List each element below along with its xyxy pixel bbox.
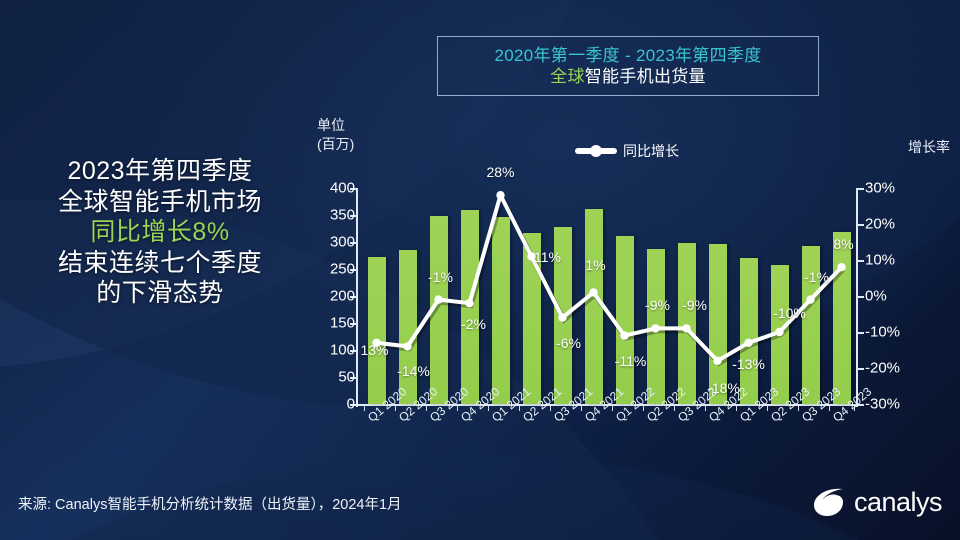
y-tick-label-left: 250 bbox=[313, 261, 355, 278]
growth-data-label: -6% bbox=[556, 335, 581, 351]
y-axis-left-label-line1: 单位 bbox=[317, 116, 354, 135]
y-tick-label-left: 400 bbox=[313, 180, 355, 197]
headline-line-3-accent: 同比增长8% bbox=[0, 217, 320, 248]
y-tick-label-left: 150 bbox=[313, 315, 355, 332]
growth-data-point bbox=[713, 357, 721, 365]
growth-data-label: 13% bbox=[360, 342, 388, 358]
growth-data-point bbox=[434, 295, 442, 303]
y-tick-label-right: 10% bbox=[865, 252, 915, 269]
source-footnote: 来源: Canalys智能手机分析统计数据（出货量），2024年1月 bbox=[18, 493, 402, 514]
growth-data-point bbox=[775, 328, 783, 336]
growth-data-label: 1% bbox=[585, 257, 605, 273]
canalys-logo: canalys bbox=[812, 486, 942, 518]
y-tick-label-right: 0% bbox=[865, 288, 915, 305]
growth-data-label: -2% bbox=[461, 316, 486, 332]
growth-data-label: -10% bbox=[773, 305, 806, 321]
y-tick-right bbox=[858, 368, 864, 370]
growth-line-series bbox=[356, 188, 858, 406]
growth-data-label: 28% bbox=[486, 164, 514, 180]
headline-line-5: 的下滑态势 bbox=[0, 278, 320, 309]
y-tick-label-left: 100 bbox=[313, 342, 355, 359]
legend-line-marker-icon bbox=[575, 148, 617, 154]
headline: 2023年第四季度 全球智能手机市场 同比增长8% 结束连续七个季度 的下滑态势 bbox=[0, 156, 320, 309]
growth-data-label: 11% bbox=[534, 249, 561, 265]
growth-data-point bbox=[496, 191, 504, 199]
growth-data-point bbox=[465, 299, 473, 307]
y-tick-label-left: 50 bbox=[313, 369, 355, 386]
growth-data-label: -1% bbox=[428, 269, 453, 285]
y-tick-label-left: 300 bbox=[313, 234, 355, 251]
growth-data-label: -9% bbox=[645, 297, 670, 313]
headline-line-1: 2023年第四季度 bbox=[0, 156, 320, 187]
y-tick-label-left: 200 bbox=[313, 288, 355, 305]
chart-title-box: 2020年第一季度 - 2023年第四季度 全球智能手机出货量 bbox=[437, 36, 819, 96]
y-tick-label-right: -10% bbox=[865, 324, 915, 341]
headline-line-2: 全球智能手机市场 bbox=[0, 187, 320, 218]
y-tick-right bbox=[858, 260, 864, 262]
y-tick-right bbox=[858, 188, 864, 190]
y-tick-right bbox=[858, 332, 864, 334]
growth-data-label: -1% bbox=[804, 269, 829, 285]
growth-data-point bbox=[589, 288, 597, 296]
growth-data-point bbox=[620, 331, 628, 339]
growth-data-label: -9% bbox=[682, 297, 707, 313]
y-axis-right-label: 增长率 bbox=[908, 137, 950, 157]
growth-data-point bbox=[682, 324, 690, 332]
y-tick-label-right: -30% bbox=[865, 396, 915, 413]
chart-plot-area: 400350300250200150100500 30%20%10%0%-10%… bbox=[356, 188, 858, 406]
y-tick-label-right: 20% bbox=[865, 216, 915, 233]
y-tick-label-left: 350 bbox=[313, 207, 355, 224]
y-tick-label-right: -20% bbox=[865, 360, 915, 377]
headline-line-4: 结束连续七个季度 bbox=[0, 248, 320, 279]
growth-data-point bbox=[837, 263, 845, 271]
chart-title-subject: 全球智能手机出货量 bbox=[550, 66, 706, 87]
chart-title-subject-white: 智能手机出货量 bbox=[585, 67, 706, 86]
growth-data-point bbox=[403, 342, 411, 350]
chart-legend: 同比增长 bbox=[575, 141, 679, 161]
x-tick bbox=[364, 406, 365, 411]
y-tick-label-left: 0 bbox=[313, 396, 355, 413]
chart-title-subject-green: 全球 bbox=[550, 67, 585, 86]
growth-data-label: -13% bbox=[732, 356, 765, 372]
growth-data-point bbox=[806, 295, 814, 303]
slide-canvas: 2023年第四季度 全球智能手机市场 同比增长8% 结束连续七个季度 的下滑态势… bbox=[0, 0, 960, 540]
y-axis-left-label: 单位 (百万) bbox=[317, 116, 354, 154]
canalys-swoosh-icon bbox=[812, 486, 846, 518]
y-axis-left-label-line2: (百万) bbox=[317, 135, 354, 154]
growth-data-label: 8% bbox=[833, 236, 853, 252]
legend-label-growth: 同比增长 bbox=[623, 141, 679, 161]
growth-data-point bbox=[651, 324, 659, 332]
chart-title-period: 2020年第一季度 - 2023年第四季度 bbox=[494, 45, 761, 66]
growth-data-point bbox=[558, 313, 566, 321]
y-tick-right bbox=[858, 224, 864, 226]
y-tick-right bbox=[858, 296, 864, 298]
canalys-wordmark: canalys bbox=[854, 487, 942, 518]
growth-data-label: -14% bbox=[397, 363, 430, 379]
growth-data-point bbox=[744, 339, 752, 347]
y-tick-label-right: 30% bbox=[865, 180, 915, 197]
growth-data-label: -11% bbox=[615, 353, 647, 369]
